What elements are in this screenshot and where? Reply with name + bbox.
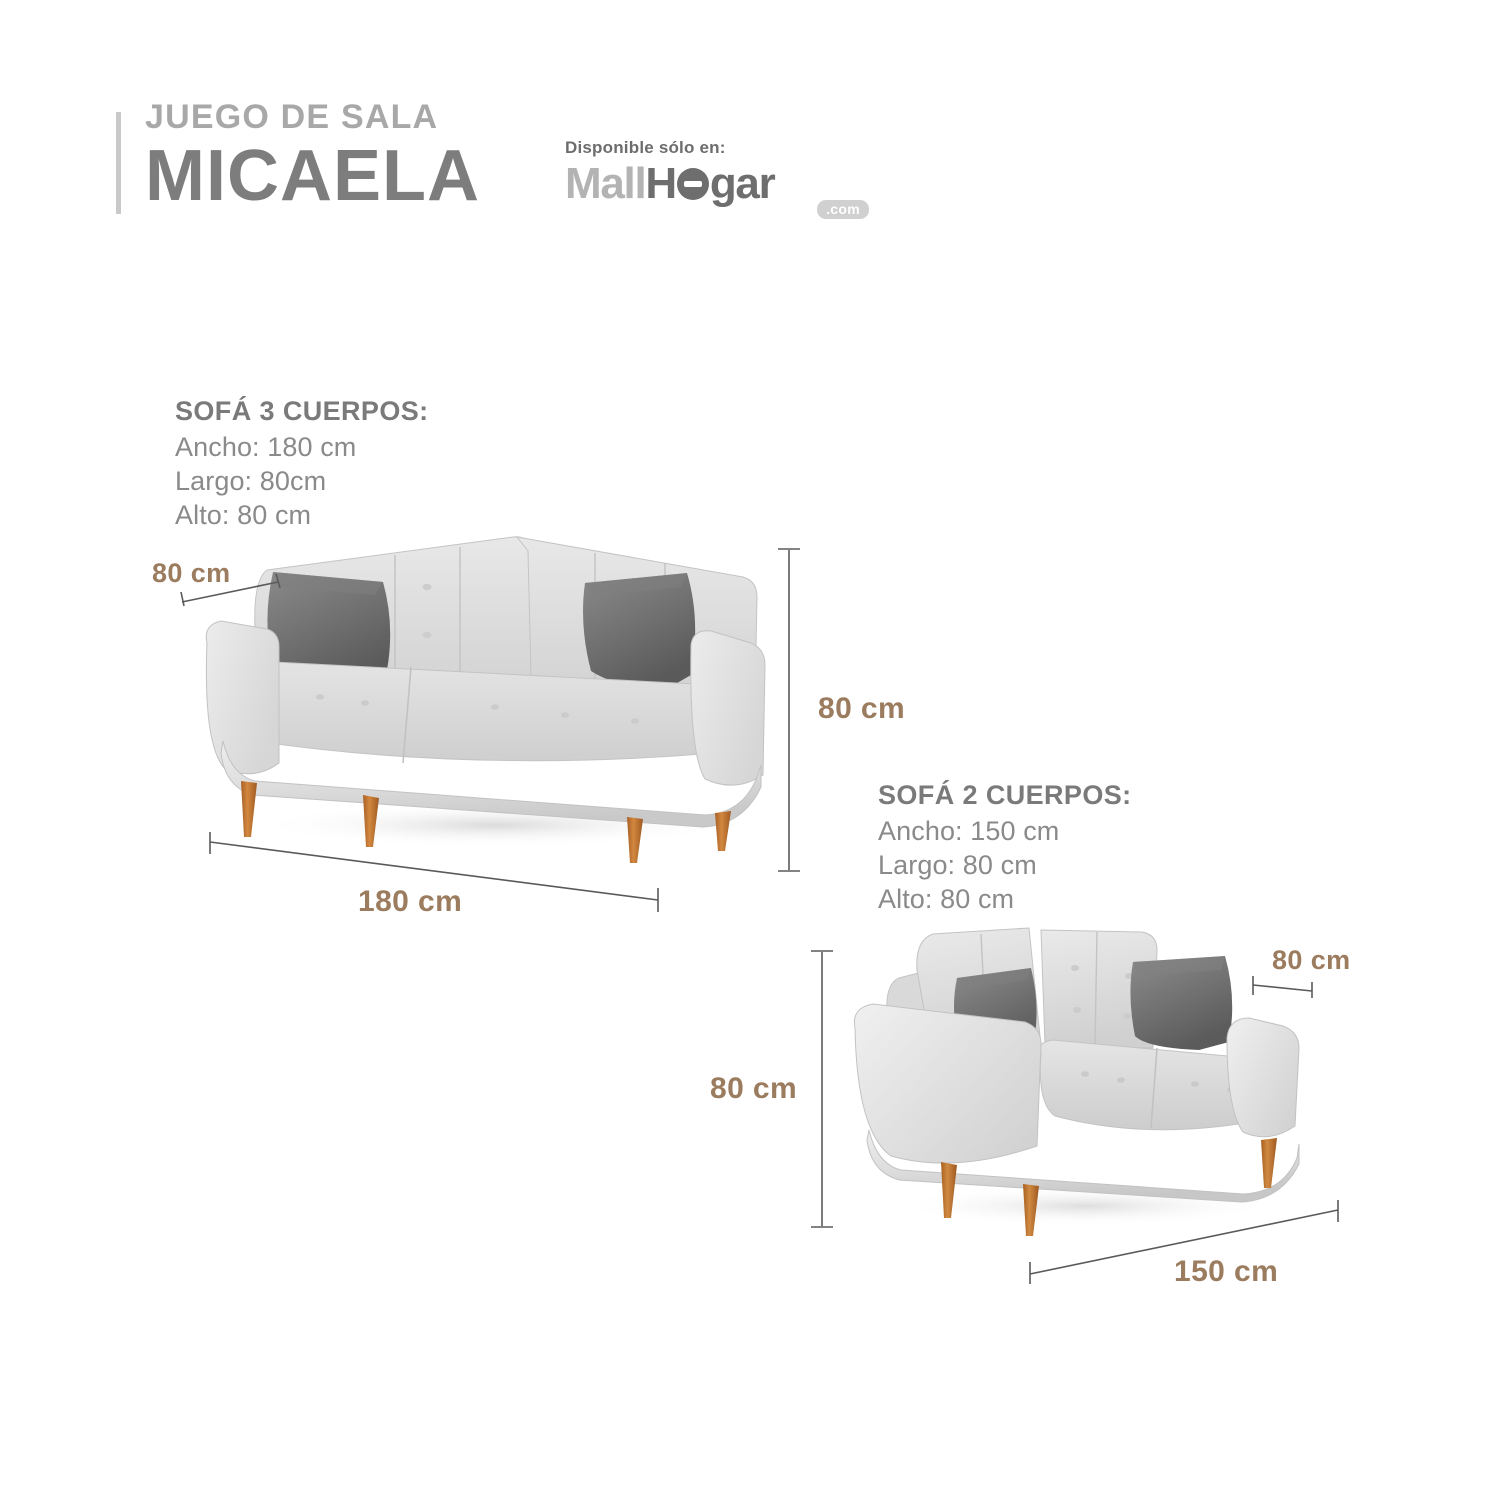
availability-block: Disponible sólo en: Mall H gar .com — [565, 138, 865, 206]
sofa-3-cuerpos-image — [195, 525, 775, 865]
dim-label-depth-sofa-2: 80 cm — [1272, 945, 1351, 976]
page-title: MICAELA — [145, 140, 480, 213]
spec-block-sofa-2: SOFÁ 2 CUERPOS: Ancho: 150 cm Largo: 80 … — [878, 780, 1258, 918]
spec-title-sofa-2: SOFÁ 2 CUERPOS: — [878, 780, 1258, 811]
sofa-leg-back-right — [715, 811, 731, 851]
title-divider-bar — [116, 112, 121, 214]
spec-line-ancho-2: Ancho: 150 cm — [878, 816, 1258, 847]
sofa-2-cuerpos-image — [845, 918, 1315, 1248]
kicker-text: JUEGO DE SALA — [145, 100, 480, 134]
spec-block-sofa-3: SOFÁ 3 CUERPOS: Ancho: 180 cm Largo: 80c… — [175, 396, 555, 534]
spec-line-ancho-3: Ancho: 180 cm — [175, 432, 555, 463]
dim-label-width-sofa-2: 150 cm — [1174, 1255, 1278, 1289]
sofa-arm-right — [691, 631, 765, 785]
sofa-leg-front-left — [241, 781, 257, 837]
spec-line-alto-2: Alto: 80 cm — [878, 884, 1258, 915]
sofa2-leg-back-right — [1261, 1138, 1277, 1188]
dim-label-height-sofa-2: 80 cm — [710, 1072, 797, 1106]
title-block: JUEGO DE SALA MICAELA — [145, 100, 480, 213]
sofa2-arm-left — [854, 1004, 1041, 1163]
dim-label-height-sofa-3: 80 cm — [818, 692, 905, 726]
availability-label: Disponible sólo en: — [565, 138, 865, 158]
spec-line-largo-3: Largo: 80cm — [175, 466, 555, 497]
house-o-icon — [677, 168, 709, 200]
dim-line-height-sofa-2 — [808, 942, 836, 1236]
sofa-arm-left — [206, 621, 279, 774]
dim-label-depth-sofa-3: 80 cm — [152, 558, 231, 589]
dim-line-height-sofa-3 — [775, 540, 803, 880]
dim-label-width-sofa-3: 180 cm — [358, 885, 462, 919]
spec-title-sofa-3: SOFÁ 3 CUERPOS: — [175, 396, 555, 427]
infographic-page: JUEGO DE SALA MICAELA Disponible sólo en… — [0, 0, 1500, 1500]
spec-line-largo-2: Largo: 80 cm — [878, 850, 1258, 881]
header: JUEGO DE SALA MICAELA Disponible sólo en… — [110, 100, 870, 230]
logo-com-badge: .com — [817, 200, 869, 219]
mallhogar-logo: Mall H gar .com — [565, 162, 865, 206]
logo-text-gar: gar — [710, 162, 775, 206]
sofa2-arm-right — [1227, 1018, 1299, 1137]
logo-text-mall: Mall — [565, 162, 645, 206]
logo-text-h: H — [645, 162, 675, 206]
